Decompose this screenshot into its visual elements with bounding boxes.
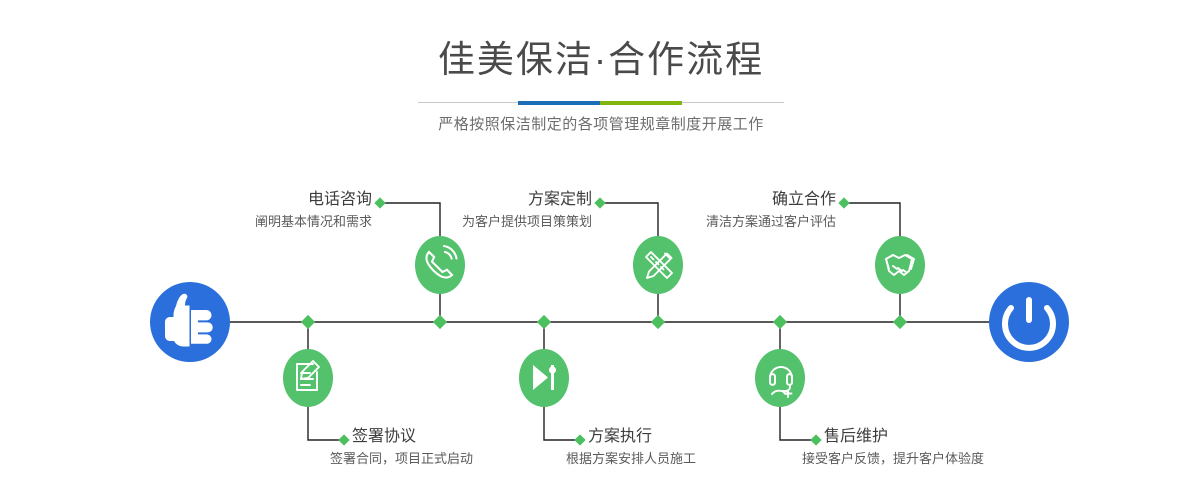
step-node-4[interactable] bbox=[519, 349, 569, 407]
step-3-title: 方案定制 bbox=[340, 190, 592, 210]
step-node-3[interactable] bbox=[633, 236, 683, 294]
step-node-5[interactable] bbox=[875, 236, 925, 294]
start-node-circle bbox=[150, 282, 230, 362]
step-1-badge bbox=[415, 236, 465, 294]
axis-diamond-1 bbox=[301, 315, 315, 329]
step-1-desc: 阐明基本情况和需求 bbox=[120, 213, 372, 231]
step-6-label: 售后维护 接受客户反馈，提升客户体验度 bbox=[824, 427, 1124, 468]
step-5-desc: 清洁方案通过客户评估 bbox=[584, 213, 836, 231]
step-3-label: 方案定制 为客户提供项目策策划 bbox=[340, 190, 592, 231]
step-2-title: 签署协议 bbox=[352, 427, 612, 447]
step-5-badge bbox=[875, 236, 925, 294]
timeline-start-node[interactable] bbox=[150, 282, 230, 362]
step-5-label: 确立合作 清洁方案通过客户评估 bbox=[584, 190, 836, 231]
timeline-end-node[interactable] bbox=[989, 282, 1069, 362]
axis-diamond-5 bbox=[773, 315, 787, 329]
axis-diamond-2 bbox=[433, 315, 447, 329]
step-6-badge bbox=[755, 349, 805, 407]
axis-diamond-4 bbox=[651, 315, 665, 329]
step-node-1[interactable] bbox=[415, 236, 465, 294]
label-marker-step-5 bbox=[838, 197, 849, 208]
axis-diamond-6 bbox=[893, 315, 907, 329]
flow-chart-page: 佳美保洁·合作流程 严格按照保洁制定的各项管理规章制度开展工作 bbox=[0, 0, 1202, 502]
step-6-title: 售后维护 bbox=[824, 427, 1124, 447]
axis-diamond-3 bbox=[537, 315, 551, 329]
step-1-label: 电话咨询 阐明基本情况和需求 bbox=[120, 190, 372, 231]
label-marker-step-2 bbox=[338, 434, 349, 445]
step-node-2[interactable] bbox=[283, 349, 333, 407]
step-6-desc: 接受客户反馈，提升客户体验度 bbox=[802, 450, 1124, 468]
step-node-6[interactable] bbox=[755, 349, 805, 407]
step-3-desc: 为客户提供项目策策划 bbox=[340, 213, 592, 231]
step-4-title: 方案执行 bbox=[588, 427, 848, 447]
step-1-title: 电话咨询 bbox=[120, 190, 372, 210]
step-5-title: 确立合作 bbox=[584, 190, 836, 210]
